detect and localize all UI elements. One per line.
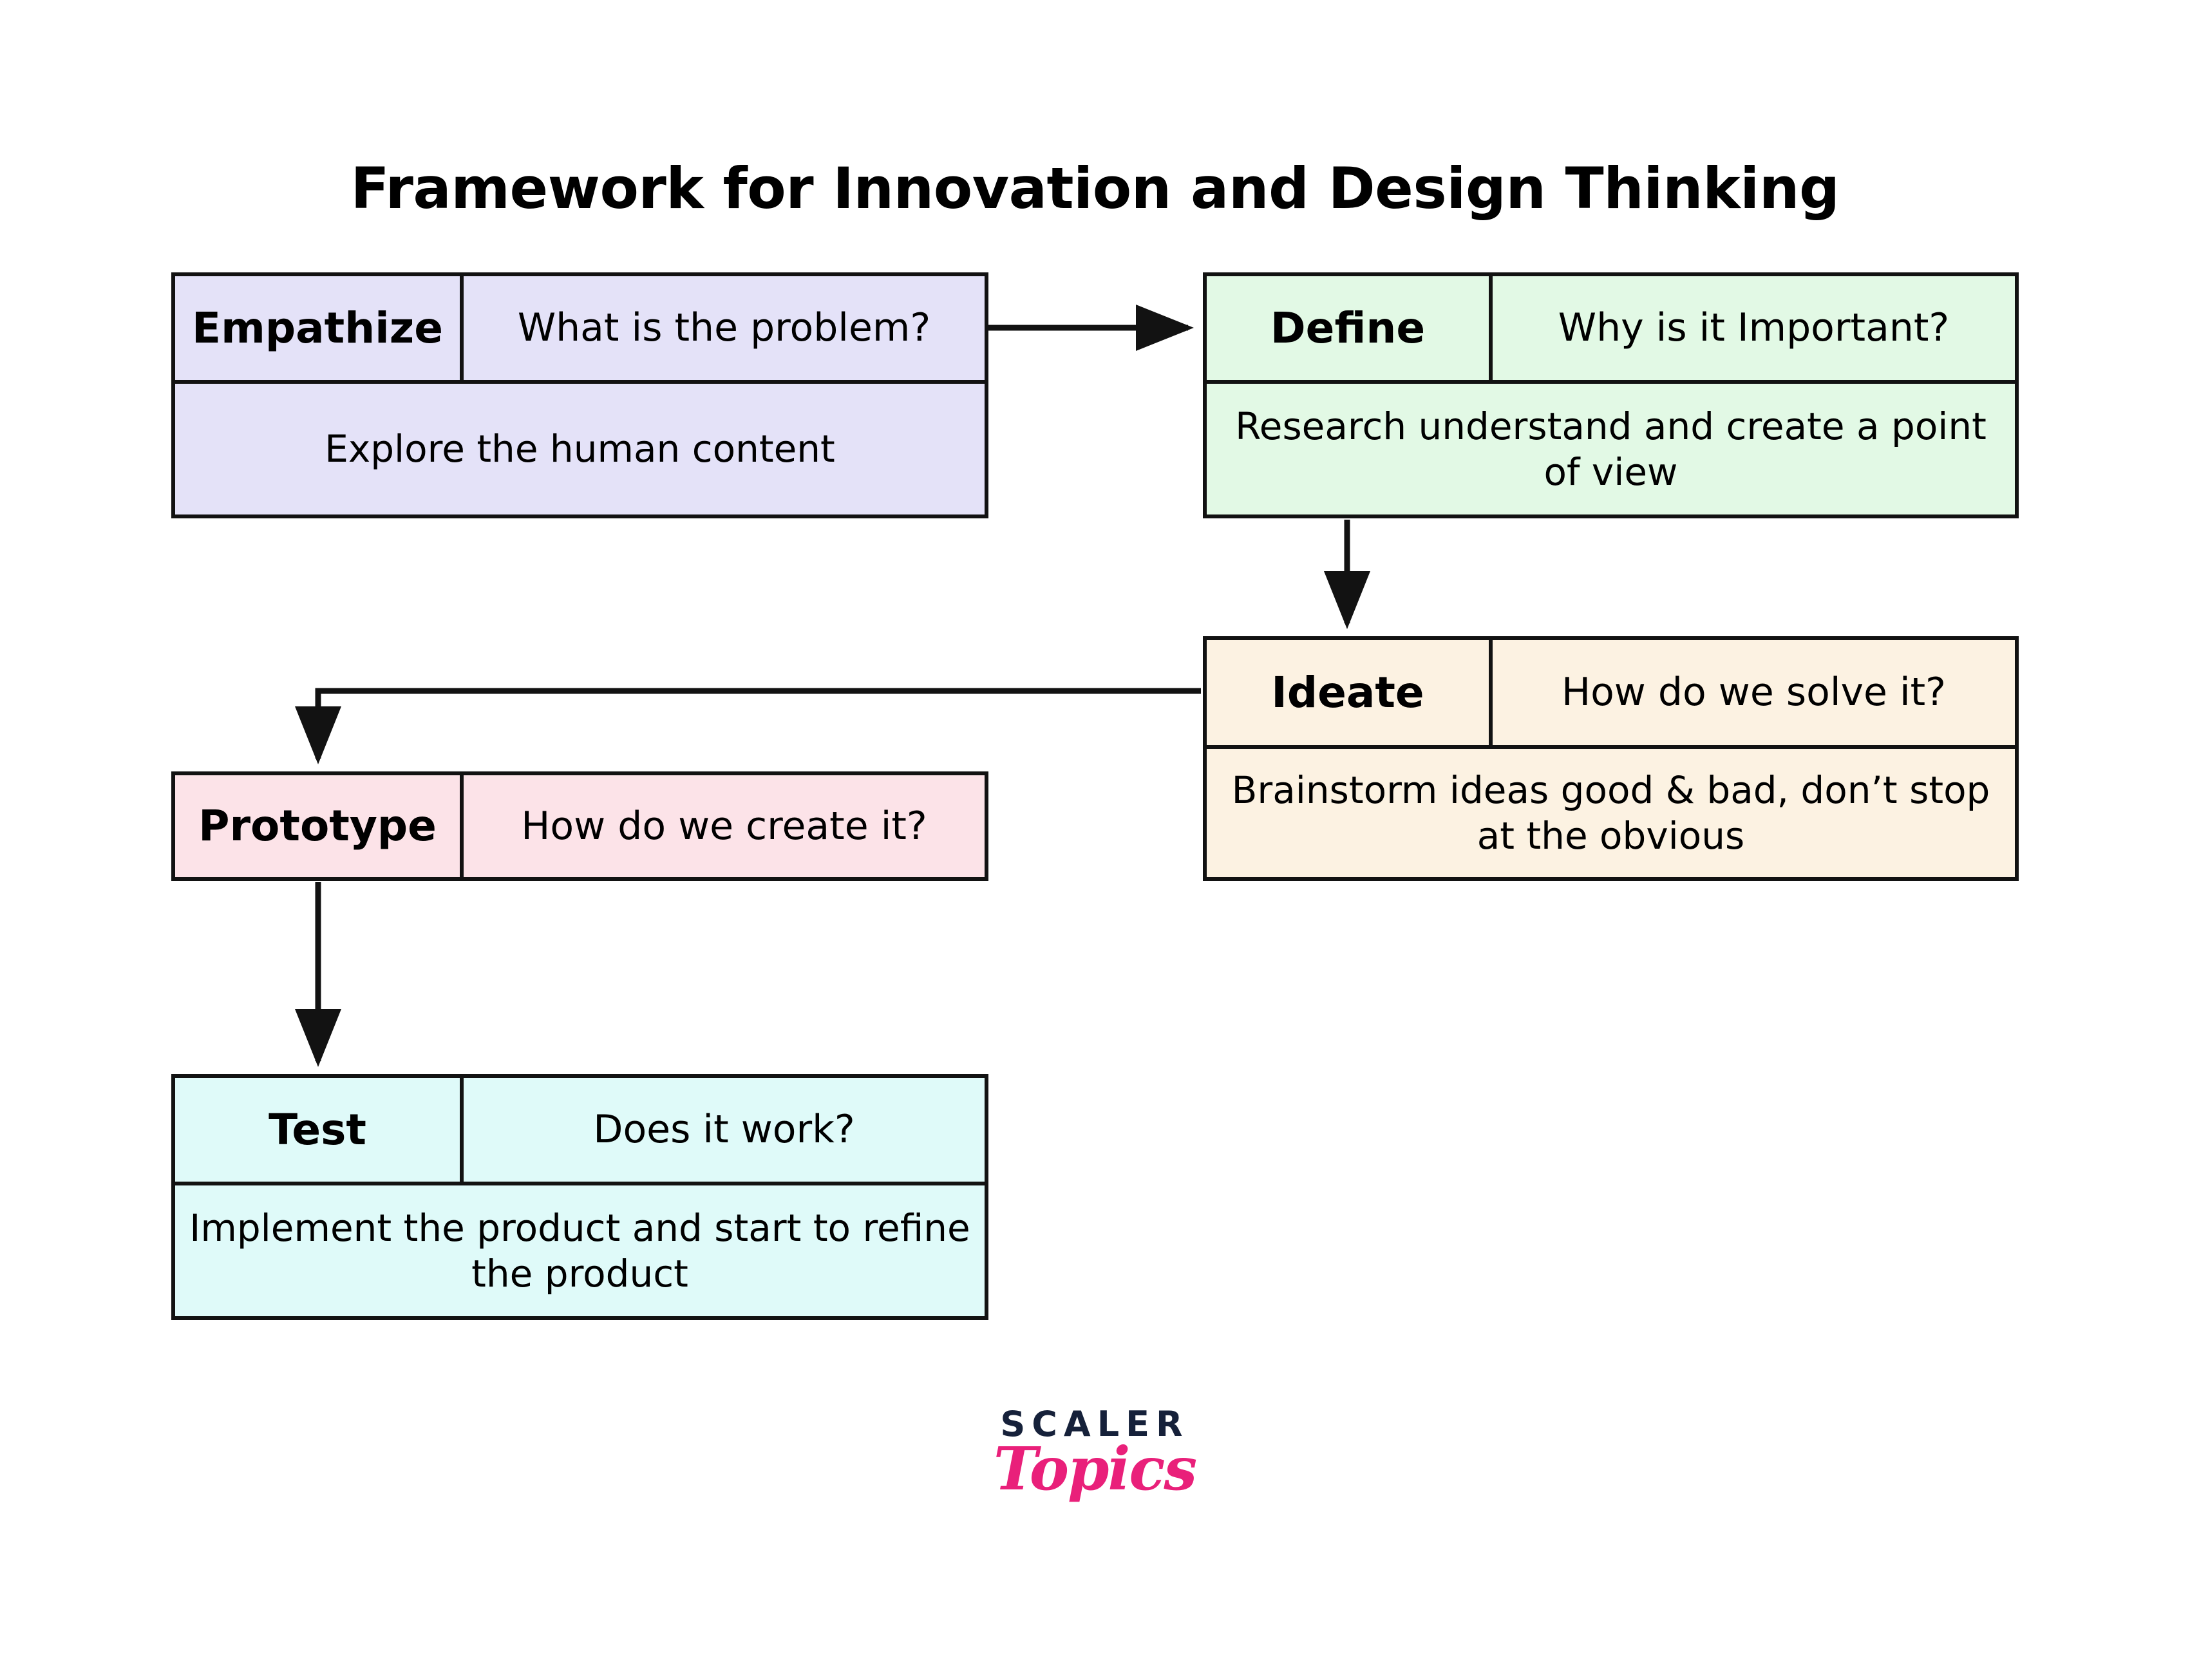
stage-question-test: Does it work? bbox=[464, 1078, 985, 1182]
stage-term-test: Test bbox=[175, 1078, 464, 1182]
scaler-topics-logo[interactable]: SCALER Topics bbox=[988, 1407, 1201, 1500]
stage-description-test: Implement the product and start to refin… bbox=[175, 1182, 985, 1316]
page-title: Framework for Innovation and Design Thin… bbox=[0, 158, 2190, 220]
stage-box-define[interactable]: Define Why is it Important? Research und… bbox=[1203, 272, 2019, 518]
stage-header-test: Test Does it work? bbox=[175, 1078, 985, 1182]
stage-question-define: Why is it Important? bbox=[1493, 276, 2015, 380]
stage-term-empathize: Empathize bbox=[175, 276, 464, 380]
stage-header-ideate: Ideate How do we solve it? bbox=[1207, 640, 2015, 745]
stage-box-test[interactable]: Test Does it work? Implement the product… bbox=[171, 1074, 988, 1320]
stage-description-define: Research understand and create a point o… bbox=[1207, 380, 2015, 514]
diagram-canvas: Framework for Innovation and Design Thin… bbox=[0, 0, 2190, 1680]
stage-question-ideate: How do we solve it? bbox=[1493, 640, 2015, 745]
stage-header-prototype: Prototype How do we create it? bbox=[175, 775, 985, 877]
stage-term-define: Define bbox=[1207, 276, 1493, 380]
stage-description-empathize: Explore the human content bbox=[175, 380, 985, 514]
stage-question-prototype: How do we create it? bbox=[464, 775, 985, 877]
stage-header-define: Define Why is it Important? bbox=[1207, 276, 2015, 380]
stage-description-ideate: Brainstorm ideas good & bad, don’t stop … bbox=[1207, 745, 2015, 877]
stage-question-empathize: What is the problem? bbox=[464, 276, 985, 380]
stage-box-empathize[interactable]: Empathize What is the problem? Explore t… bbox=[171, 272, 988, 518]
logo-product-text: Topics bbox=[988, 1438, 1201, 1500]
connector-ideate-to-prototype bbox=[318, 691, 1201, 759]
stage-term-prototype: Prototype bbox=[175, 775, 464, 877]
stage-term-ideate: Ideate bbox=[1207, 640, 1493, 745]
stage-box-ideate[interactable]: Ideate How do we solve it? Brainstorm id… bbox=[1203, 636, 2019, 881]
stage-box-prototype[interactable]: Prototype How do we create it? bbox=[171, 771, 988, 881]
stage-header-empathize: Empathize What is the problem? bbox=[175, 276, 985, 380]
